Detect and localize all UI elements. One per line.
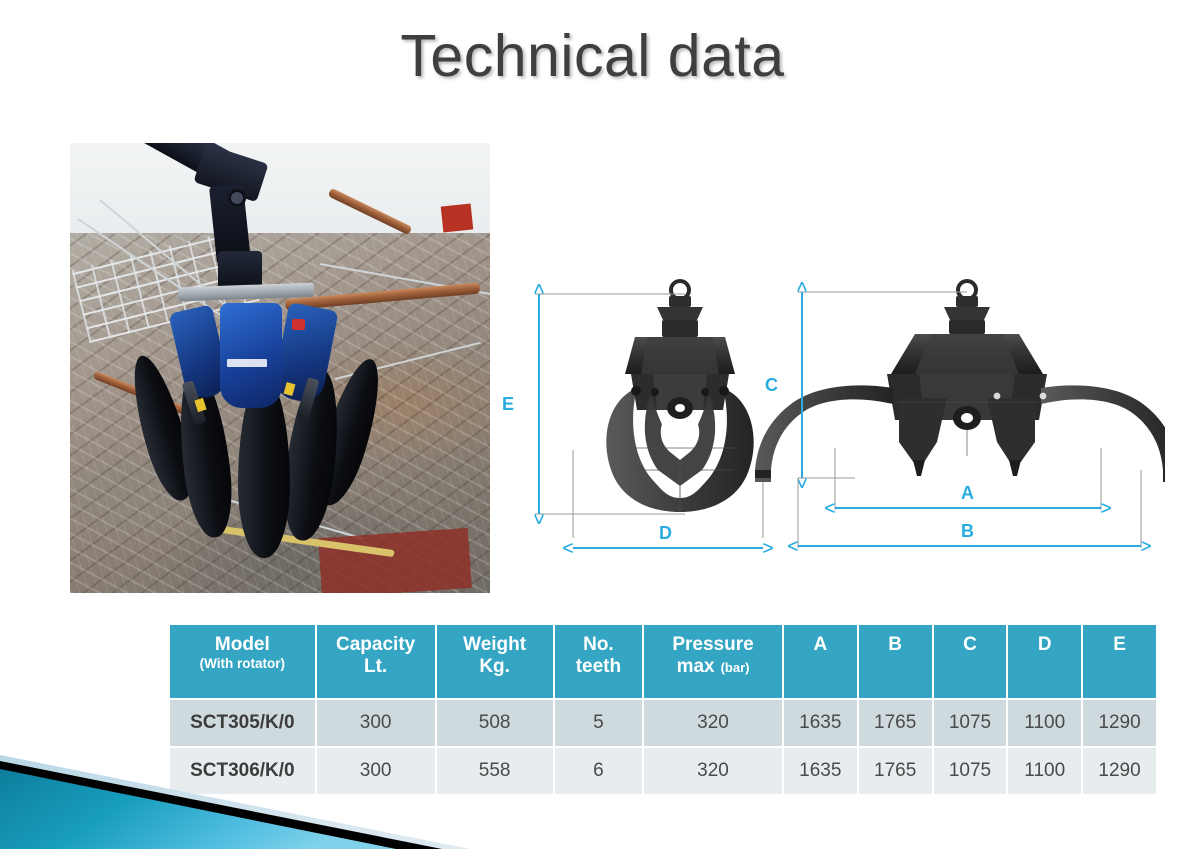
cell-teeth: 6: [555, 748, 642, 794]
header-unit: (bar): [721, 660, 750, 675]
cell-a: 1635: [784, 700, 857, 746]
cell-weight: 558: [437, 748, 553, 794]
cell-d: 1100: [1008, 700, 1081, 746]
header-sub: Lt.: [319, 656, 433, 678]
dimension-label-D: D: [659, 523, 672, 544]
photo-red-marker: [292, 319, 305, 330]
closed-grapple-graphic: [606, 281, 753, 512]
column-header-a: A: [784, 625, 857, 698]
column-header-weight: Weight Kg.: [437, 625, 553, 698]
cell-b: 1765: [859, 700, 932, 746]
column-header-model: Model (With rotator): [170, 625, 315, 698]
dimension-label-B: B: [961, 521, 974, 542]
cell-b: 1765: [859, 748, 932, 794]
cell-d: 1100: [1008, 748, 1081, 794]
table-head: Model (With rotator) Capacity Lt. Weight…: [170, 625, 1156, 698]
photo-brand-logo: [227, 359, 267, 367]
table-body: SCT305/K/0 300 508 5 320 1635 1765 1075 …: [170, 700, 1156, 794]
cell-model: SCT306/K/0: [170, 748, 315, 794]
dimension-label-A: A: [961, 483, 974, 504]
cell-pressure: 320: [644, 700, 782, 746]
open-grapple-graphic: [755, 281, 1165, 482]
header-main: Pressure: [672, 634, 753, 655]
page-title: Technical data: [0, 22, 1185, 90]
column-header-teeth: No. teeth: [555, 625, 642, 698]
header-main: Capacity: [336, 634, 415, 655]
header-main: Weight: [463, 634, 526, 655]
table-row: SCT305/K/0 300 508 5 320 1635 1765 1075 …: [170, 700, 1156, 746]
cell-e: 1290: [1083, 700, 1156, 746]
cell-teeth: 5: [555, 700, 642, 746]
cell-weight: 508: [437, 700, 553, 746]
column-header-d: D: [1008, 625, 1081, 698]
cell-capacity: 300: [317, 700, 435, 746]
header-sub: (With rotator): [172, 656, 313, 672]
cell-e: 1290: [1083, 748, 1156, 794]
grapple-photo: [70, 143, 490, 593]
table-header-row: Model (With rotator) Capacity Lt. Weight…: [170, 625, 1156, 698]
photo-red-debris: [441, 204, 474, 233]
header-sub: max(bar): [646, 656, 780, 678]
slide-canvas: Technical data: [0, 0, 1185, 849]
photo-blue-shell: [220, 303, 282, 408]
cell-pressure: 320: [644, 748, 782, 794]
cell-capacity: 300: [317, 748, 435, 794]
column-header-c: C: [934, 625, 1007, 698]
dimension-label-E: E: [502, 394, 514, 415]
header-main: Model: [215, 634, 270, 655]
cell-c: 1075: [934, 748, 1007, 794]
photo-pivot-pin: [228, 189, 246, 207]
header-sub-text: max: [677, 656, 715, 677]
dimension-label-C: C: [765, 375, 778, 396]
drawings-svg: [495, 270, 1165, 570]
column-header-capacity: Capacity Lt.: [317, 625, 435, 698]
header-main: No.: [583, 634, 614, 655]
column-header-pressure: Pressure max(bar): [644, 625, 782, 698]
dimension-drawings: E D C A B: [495, 270, 1165, 570]
cell-c: 1075: [934, 700, 1007, 746]
cell-model: SCT305/K/0: [170, 700, 315, 746]
photo-red-debris: [318, 528, 472, 593]
column-header-e: E: [1083, 625, 1156, 698]
header-sub: Kg.: [439, 656, 551, 678]
header-sub: teeth: [557, 656, 640, 678]
column-header-b: B: [859, 625, 932, 698]
table-row: SCT306/K/0 300 558 6 320 1635 1765 1075 …: [170, 748, 1156, 794]
specification-table: Model (With rotator) Capacity Lt. Weight…: [168, 623, 1158, 796]
cell-a: 1635: [784, 748, 857, 794]
